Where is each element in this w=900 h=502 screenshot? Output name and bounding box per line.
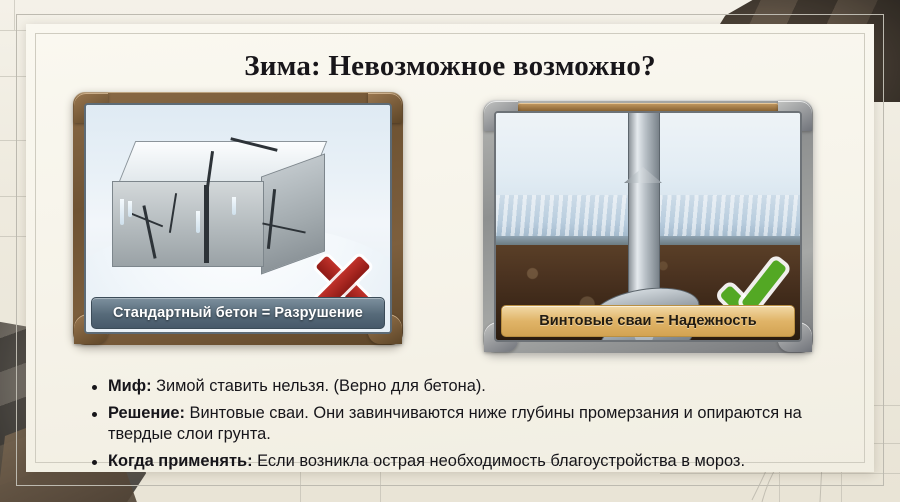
caption-screw-pile: Винтовые сваи = Надежность (501, 305, 795, 337)
bullet-list: Миф: Зимой ставить нельзя. (Верно для бе… (92, 376, 822, 478)
panel-screw-pile[interactable]: Винтовые сваи = Надежность (483, 100, 813, 353)
bullet-dot-icon (92, 412, 97, 417)
comparison-panels: Стандартный бетон = Разрушение (26, 92, 874, 357)
bullet-body: Если возникла острая необходимость благо… (253, 452, 745, 470)
list-item: Когда применять: Если возникла острая не… (92, 451, 822, 473)
concrete-block-icon (112, 141, 330, 273)
bullet-body: Винтовые сваи. Они завинчиваются ниже гл… (108, 404, 802, 444)
list-item: Миф: Зимой ставить нельзя. (Верно для бе… (92, 376, 822, 398)
bullet-label: Решение: (108, 404, 185, 422)
bullet-text: Миф: Зимой ставить нельзя. (Верно для бе… (108, 376, 486, 398)
page-title: Зима: Невозможное возможно? (26, 50, 874, 83)
panel-concrete[interactable]: Стандартный бетон = Разрушение (73, 92, 403, 345)
bullet-text: Когда применять: Если возникла острая не… (108, 451, 745, 473)
caption-concrete: Стандартный бетон = Разрушение (91, 297, 385, 329)
list-item: Решение: Винтовые сваи. Они завинчиваютс… (92, 403, 822, 446)
pile-shaft-icon (628, 113, 660, 301)
bullet-body: Зимой ставить нельзя. (Верно для бетона)… (152, 377, 486, 395)
bullet-dot-icon (92, 385, 97, 390)
bullet-text: Решение: Винтовые сваи. Они завинчиваютс… (108, 403, 822, 446)
content-card: Зима: Невозможное возможно? (26, 24, 874, 472)
bullet-label: Миф: (108, 377, 152, 395)
bullet-dot-icon (92, 460, 97, 465)
bullet-label: Когда применять: (108, 452, 253, 470)
slide-canvas: Зима: Невозможное возможно? (0, 0, 900, 502)
